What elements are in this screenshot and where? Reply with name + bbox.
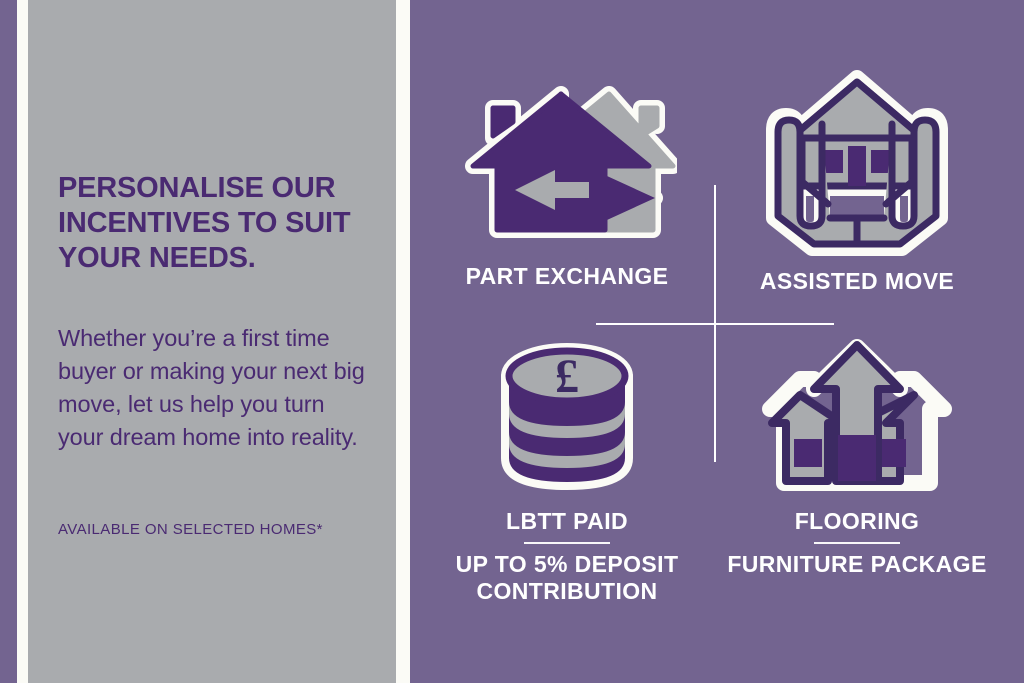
incentive-flooring-furniture[interactable]: FLOORING FURNITURE PACKAGE [722,335,992,578]
incentive-sublabel: UP TO 5% DEPOSIT CONTRIBUTION [432,551,702,605]
page-title: Personalise our incentives to suit your … [58,171,374,276]
incentive-assisted-move[interactable]: ASSISTED MOVE [722,68,992,295]
left-panel: Personalise our incentives to suit your … [0,0,410,683]
caption-rule [814,542,900,544]
incentive-label: LBTT PAID [506,508,628,535]
incentive-lbtt-paid[interactable]: £ LBTT PAID UP TO 5% DEPOSIT CONTRIBUTIO… [432,340,702,605]
body-copy: Whether you’re a first time buyer or mak… [58,322,370,454]
house-in-hands-icon [760,68,955,258]
two-houses-exchange-arrows-icon [457,78,677,253]
incentive-label: ASSISTED MOVE [760,268,954,295]
coin-stack-pound-icon: £ [487,340,647,500]
incentive-part-exchange[interactable]: PART EXCHANGE [432,78,702,290]
pound-symbol: £ [555,350,579,403]
three-house-arrows-icon [762,335,952,500]
left-content: Personalise our incentives to suit your … [58,0,376,683]
caption-rule [524,542,610,544]
fineprint-note: Available on selected homes* [58,521,388,539]
divider-horizontal [596,323,834,325]
incentives-poster: Personalise our incentives to suit your … [0,0,1024,683]
incentive-label: FLOORING [795,508,920,535]
incentive-sublabel: FURNITURE PACKAGE [727,551,986,578]
incentive-label: PART EXCHANGE [466,263,669,290]
